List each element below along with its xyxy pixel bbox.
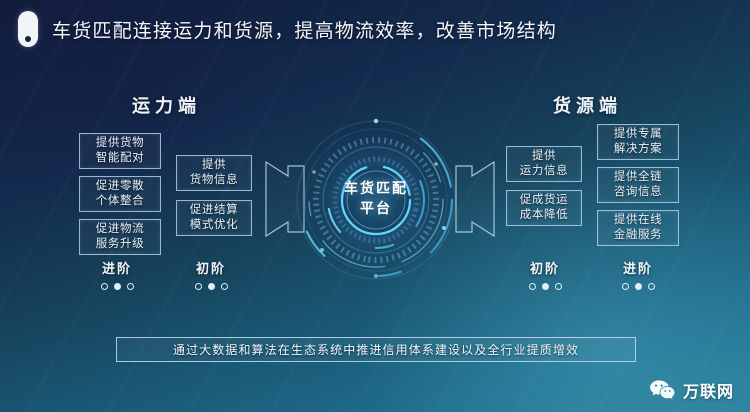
tier-dots [86, 283, 148, 290]
right-inner-box-2: 促成货运 成本降低 [506, 190, 582, 226]
tier-dot-active [542, 283, 549, 290]
box-line-1: 提供 [202, 158, 226, 173]
box-line-2: 金融服务 [614, 228, 662, 243]
box-line-1: 促成货运 [520, 193, 568, 208]
box-line-2: 运力信息 [520, 164, 568, 179]
tier-dots [607, 283, 669, 290]
box-line-2: 智能配对 [96, 151, 144, 166]
box-line-1: 促进物流 [96, 222, 144, 237]
tier-dot-active [114, 283, 121, 290]
right-inner-box-1: 提供 运力信息 [506, 146, 582, 182]
box-line-2: 咨询信息 [614, 185, 662, 200]
tier-dot [529, 283, 536, 290]
box-line-1: 提供在线 [614, 213, 662, 228]
box-line-2: 模式优化 [190, 218, 238, 233]
tier-dot [648, 283, 655, 290]
tier-dot-active [208, 283, 215, 290]
concentric-rings-hud-icon [292, 116, 460, 284]
right-outer-box-2: 提供全链 咨询信息 [597, 167, 679, 203]
slide-header: 车货匹配连接运力和货源，提高物流效率，改善市场结构 [0, 0, 750, 58]
box-line-2: 服务升级 [96, 237, 144, 252]
left-inner-box-2: 促进结算 模式优化 [176, 200, 252, 236]
right-section-heading: 货源端 [553, 92, 622, 118]
wechat-icon [649, 379, 675, 401]
watermark: 万联网 [649, 378, 734, 402]
left-inner-box-1: 提供 货物信息 [176, 155, 252, 191]
bottom-banner-text: 通过大数据和算法在生态系统中推进信用体系建设以及全行业提质增效 [173, 341, 579, 358]
tier-dot [127, 283, 134, 290]
right-outer-box-3: 提供在线 金融服务 [597, 210, 679, 246]
tier-label: 初阶 [180, 258, 242, 277]
tier-dot [622, 283, 629, 290]
left-outer-box-1: 提供货物 智能配对 [79, 133, 161, 169]
tier-label: 初阶 [514, 258, 576, 277]
left-tier-marker-1: 进阶 [86, 258, 148, 290]
tier-dots [180, 283, 242, 290]
tier-dot [555, 283, 562, 290]
slide-canvas: 车货匹配连接运力和货源，提高物流效率，改善市场结构 运力端 货源端 提供货物 智… [0, 0, 750, 412]
box-line-1: 提供全链 [614, 170, 662, 185]
tier-label: 进阶 [607, 258, 669, 277]
tier-dot [101, 283, 108, 290]
left-tier-marker-2: 初阶 [180, 258, 242, 290]
box-line-2: 成本降低 [520, 208, 568, 223]
tier-dot-active [635, 283, 642, 290]
box-line-1: 提供货物 [96, 136, 144, 151]
pill-badge-icon [18, 11, 38, 47]
tier-label: 进阶 [86, 258, 148, 277]
box-line-1: 提供 [532, 149, 556, 164]
left-outer-box-2: 促进零散 个体整合 [79, 176, 161, 212]
tier-dots [514, 283, 576, 290]
box-line-2: 解决方案 [614, 142, 662, 157]
central-hub: 车货匹配 平台 [292, 116, 460, 284]
box-line-2: 个体整合 [96, 194, 144, 209]
right-tier-marker-1: 初阶 [514, 258, 576, 290]
left-outer-box-3: 促进物流 服务升级 [79, 219, 161, 255]
bottom-banner: 通过大数据和算法在生态系统中推进信用体系建设以及全行业提质增效 [116, 337, 636, 362]
right-outer-box-1: 提供专属 解决方案 [597, 124, 679, 160]
left-section-heading: 运力端 [132, 92, 201, 118]
page-title: 车货匹配连接运力和货源，提高物流效率，改善市场结构 [52, 16, 557, 43]
box-line-1: 促进结算 [190, 203, 238, 218]
box-line-1: 提供专属 [614, 127, 662, 142]
box-line-1: 促进零散 [96, 179, 144, 194]
box-line-2: 货物信息 [190, 173, 238, 188]
watermark-text: 万联网 [683, 378, 734, 402]
right-tier-marker-2: 进阶 [607, 258, 669, 290]
tier-dot [221, 283, 228, 290]
tier-dot [195, 283, 202, 290]
